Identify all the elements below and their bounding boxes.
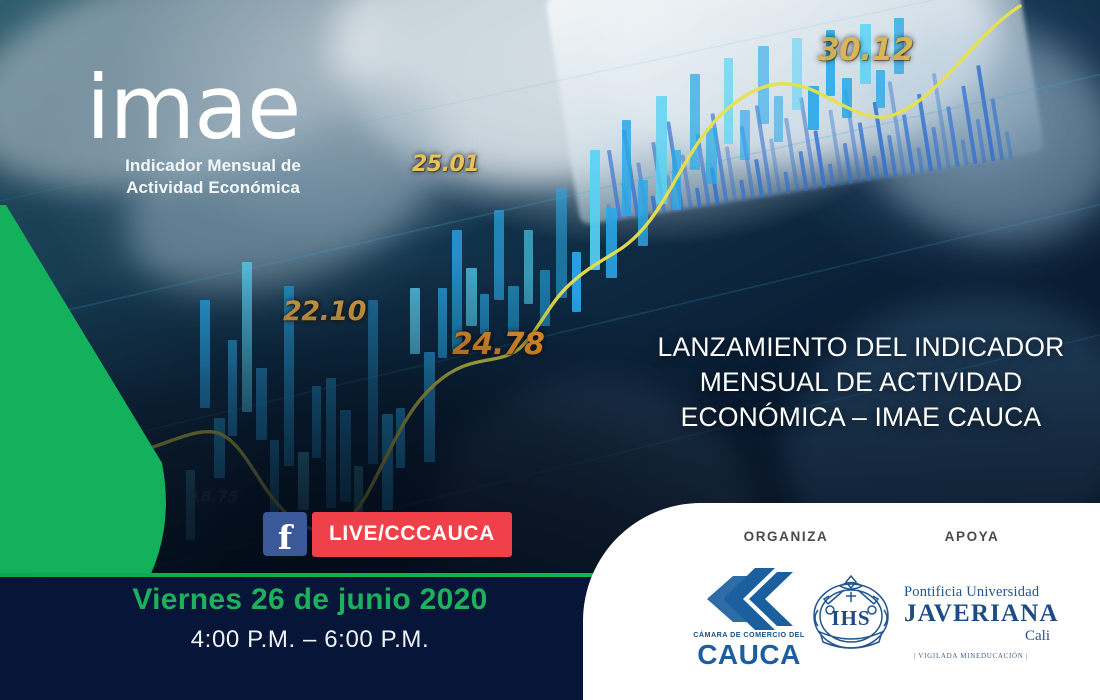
- poster-canvas: 30.12 25.01 22.10 24.78 18.75 imae Indic…: [0, 0, 1100, 700]
- camara-comercio-subtitle: CÁMARA DE COMERCIO DEL: [683, 630, 815, 639]
- event-date: Viernes 26 de junio 2020: [0, 583, 620, 617]
- title-line-1: LANZAMIENTO DEL INDICADOR: [636, 330, 1086, 365]
- live-channel-badge[interactable]: LIVE/CCCAUCA: [312, 512, 512, 557]
- javeriana-line-2: JAVERIANA: [904, 600, 1054, 628]
- javeriana-vigilada-note: | VIGILADA MINEDUCACIÓN |: [886, 652, 1056, 660]
- imae-logo: imae Indicador Mensual de Actividad Econ…: [86, 68, 386, 208]
- javeriana-line-3: Cali: [904, 628, 1050, 645]
- camara-comercio-chevron-icon: [703, 566, 795, 632]
- event-time: 4:00 P.M. – 6:00 P.M.: [0, 626, 620, 654]
- apoya-label: APOYA: [897, 529, 1047, 544]
- javeriana-logo: IHS Pontificia Universidad JAVERIANA Cal…: [808, 568, 1048, 680]
- camara-comercio-name: CAUCA: [683, 639, 815, 671]
- page-title: LANZAMIENTO DEL INDICADOR MENSUAL DE ACT…: [636, 330, 1086, 435]
- facebook-glyph: f: [278, 521, 292, 554]
- title-line-2: MENSUAL DE ACTIVIDAD: [636, 365, 1086, 400]
- imae-tagline: Indicador Mensual de Actividad Económica: [98, 155, 328, 199]
- imae-wordmark: imae: [86, 68, 386, 147]
- organiza-label: ORGANIZA: [701, 529, 871, 544]
- imae-tagline-line1: Indicador Mensual de: [98, 155, 328, 177]
- title-line-3: ECONÓMICA – IMAE CAUCA: [636, 400, 1086, 435]
- javeriana-line-1: Pontificia Universidad: [904, 584, 1054, 601]
- imae-tagline-line2: Actividad Económica: [98, 177, 328, 199]
- camara-comercio-cauca-logo: CÁMARA DE COMERCIO DEL CAUCA: [689, 566, 809, 678]
- facebook-live-link[interactable]: f LIVE/CCCAUCA: [263, 512, 512, 556]
- facebook-icon[interactable]: f: [263, 512, 307, 556]
- svg-text:IHS: IHS: [831, 606, 870, 630]
- javeriana-ihs-crest-icon: IHS: [808, 570, 894, 656]
